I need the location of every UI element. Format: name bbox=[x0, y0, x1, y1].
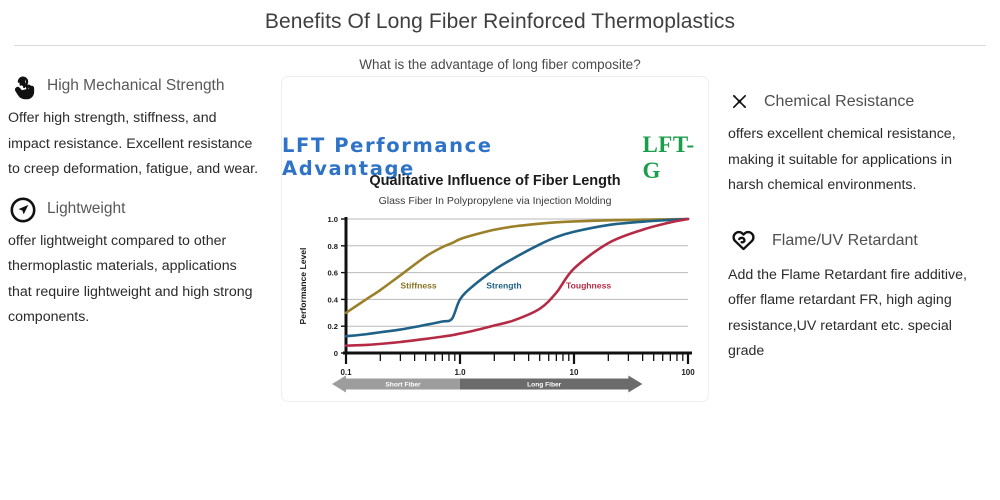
chart-subtitle: Glass Fiber In Polypropylene via Injecti… bbox=[282, 195, 708, 207]
right-feature-column: Chemical Resistance offers excellent che… bbox=[728, 88, 990, 371]
svg-text:0.8: 0.8 bbox=[327, 242, 338, 251]
feature-description: offer lightweight compared to other ther… bbox=[8, 229, 260, 331]
crossed-tools-icon bbox=[728, 90, 750, 112]
svg-text:Toughness: Toughness bbox=[566, 281, 611, 291]
svg-text:Long Fiber: Long Fiber bbox=[527, 382, 561, 389]
svg-text:Stiffness: Stiffness bbox=[400, 281, 437, 291]
page-header: Benefits Of Long Fiber Reinforced Thermo… bbox=[0, 0, 1000, 72]
feature-title: Chemical Resistance bbox=[764, 88, 914, 114]
feature-flame-uv-retardant: Flame/UV Retardant Add the Flame Retarda… bbox=[728, 225, 990, 365]
compass-navigation-icon bbox=[8, 195, 38, 225]
svg-text:1.0: 1.0 bbox=[327, 215, 338, 224]
feature-title: Lightweight bbox=[47, 195, 125, 221]
heart-swirl-icon bbox=[728, 225, 758, 255]
page-title: Benefits Of Long Fiber Reinforced Thermo… bbox=[0, 8, 1000, 36]
left-feature-column: High Mechanical Strength Offer high stre… bbox=[8, 72, 260, 337]
content-area: High Mechanical Strength Offer high stre… bbox=[0, 72, 1000, 482]
feature-high-mechanical-strength: High Mechanical Strength Offer high stre… bbox=[8, 72, 260, 183]
svg-text:Strength: Strength bbox=[486, 281, 521, 291]
chart-title: Qualitative Influence of Fiber Length bbox=[282, 173, 708, 189]
feature-header: Lightweight bbox=[8, 195, 260, 225]
svg-text:100: 100 bbox=[681, 368, 695, 377]
header-divider bbox=[14, 45, 986, 46]
svg-text:Performance Level: Performance Level bbox=[298, 248, 308, 325]
svg-text:0.4: 0.4 bbox=[327, 295, 338, 304]
feature-description: offers excellent chemical resistance, ma… bbox=[728, 122, 990, 199]
chart-card: LFT Performance Advantage LFT-G ® Qualit… bbox=[281, 76, 709, 402]
tap-hand-icon bbox=[8, 72, 38, 102]
svg-text:0.1: 0.1 bbox=[340, 368, 352, 377]
feature-lightweight: Lightweight offer lightweight compared t… bbox=[8, 195, 260, 331]
svg-text:Short Fiber: Short Fiber bbox=[385, 382, 421, 389]
chart-svg: 00.20.40.60.81.0Performance Level0.11.01… bbox=[292, 211, 700, 397]
svg-text:0.6: 0.6 bbox=[327, 269, 338, 278]
chart-plot-area: 00.20.40.60.81.0Performance Level0.11.01… bbox=[292, 211, 700, 397]
svg-text:0.2: 0.2 bbox=[327, 322, 338, 331]
feature-header: Flame/UV Retardant bbox=[728, 225, 990, 255]
svg-text:0: 0 bbox=[334, 349, 338, 358]
feature-title: High Mechanical Strength bbox=[47, 72, 225, 98]
chart-inner: LFT Performance Advantage LFT-G ® Qualit… bbox=[282, 77, 708, 401]
svg-text:1.0: 1.0 bbox=[454, 368, 466, 377]
page-subtitle: What is the advantage of long fiber comp… bbox=[0, 57, 1000, 72]
feature-description: Add the Flame Retardant fire additive, o… bbox=[728, 263, 990, 365]
feature-title: Flame/UV Retardant bbox=[772, 227, 918, 253]
svg-text:10: 10 bbox=[570, 368, 579, 377]
feature-description: Offer high strength, stiffness, and impa… bbox=[8, 106, 260, 183]
feature-chemical-resistance: Chemical Resistance offers excellent che… bbox=[728, 88, 990, 199]
feature-header: Chemical Resistance bbox=[728, 88, 990, 114]
feature-header: High Mechanical Strength bbox=[8, 72, 260, 102]
